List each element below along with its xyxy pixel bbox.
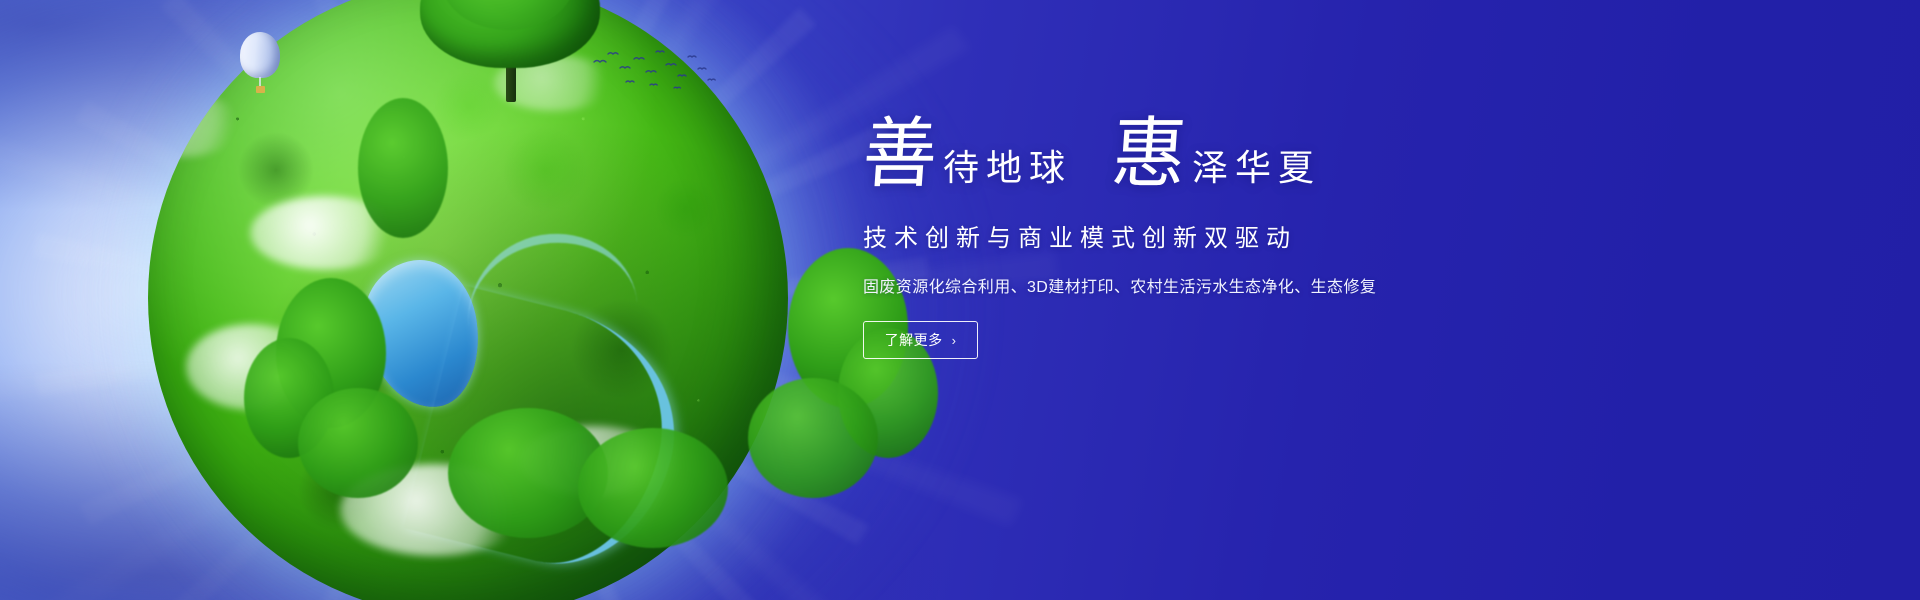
birds-icon (590, 48, 720, 92)
headline-rest-chars-2: 泽华夏 (1192, 150, 1321, 192)
chevron-right-icon: › (952, 334, 957, 347)
learn-more-button[interactable]: 了解更多 › (863, 321, 978, 359)
hero-content: 善 待地球 惠 泽华夏 技术创新与商业模式创新双驱动 固废资源化综合利用、3D建… (863, 118, 1563, 359)
hero-banner: 善 待地球 惠 泽华夏 技术创新与商业模式创新双驱动 固废资源化综合利用、3D建… (0, 0, 1920, 600)
page-subtitle: 技术创新与商业模式创新双驱动 (863, 218, 1563, 253)
rim-foliage (298, 388, 418, 498)
headline-rest-chars-1: 待地球 (943, 150, 1072, 192)
learn-more-label: 了解更多 (885, 330, 943, 350)
balloon-basket (256, 86, 265, 93)
balloon-envelope (240, 32, 280, 78)
tree-icon (420, 0, 600, 98)
page-description: 固废资源化综合利用、3D建材打印、农村生活污水生态净化、生态修复 (863, 273, 1563, 297)
headline-phrase-2: 惠 泽华夏 (1112, 118, 1321, 192)
rim-foliage (358, 98, 448, 238)
headline-phrase-1: 善 待地球 (863, 118, 1072, 192)
page-title: 善 待地球 惠 泽华夏 (863, 118, 1563, 192)
headline-lead-char-2: 惠 (1109, 117, 1194, 194)
rim-foliage (748, 378, 878, 498)
hot-air-balloon-icon (240, 32, 280, 96)
headline-lead-char-1: 善 (860, 117, 945, 194)
rim-foliage (578, 428, 728, 548)
